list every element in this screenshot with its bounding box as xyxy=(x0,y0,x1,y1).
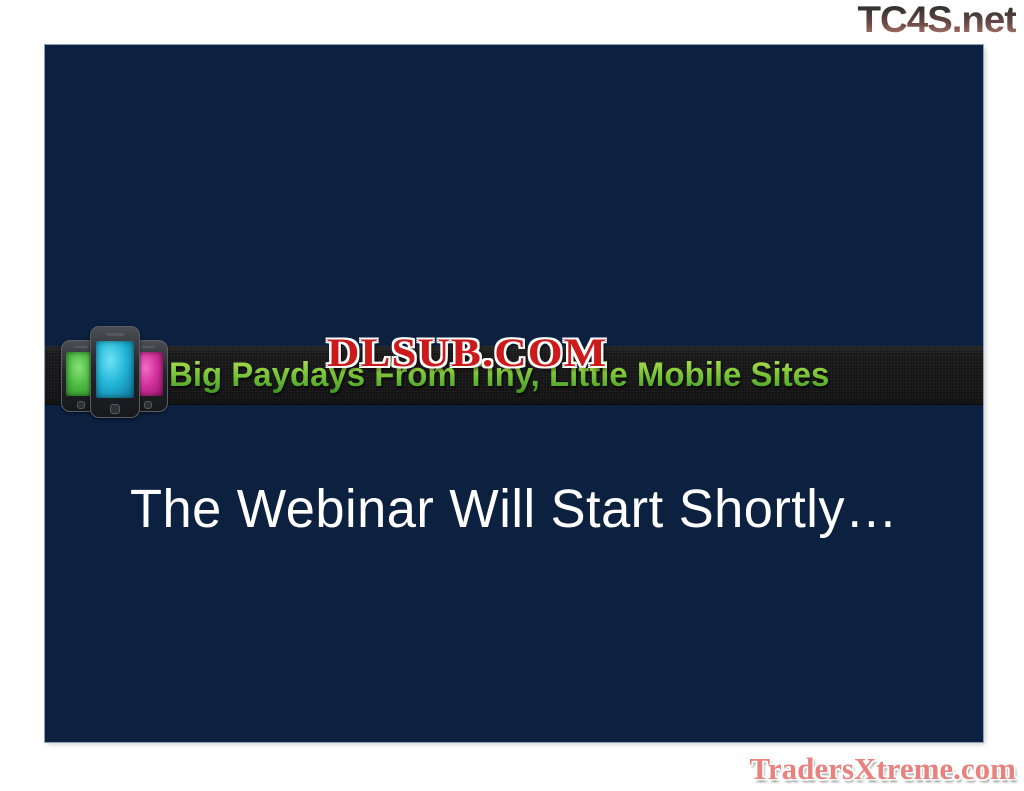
phone-blue-icon xyxy=(90,326,140,418)
dlsub-watermark: DLSUB.COM xyxy=(327,331,607,375)
phones-illustration xyxy=(59,326,177,420)
phone-speaker-icon xyxy=(106,333,123,336)
phone-home-button-icon xyxy=(144,401,152,409)
brand-footer-tradersxtreme: TradersXtreme.com xyxy=(0,750,1016,788)
site-logo-tc4s: TC4S.net xyxy=(829,0,1016,42)
phone-home-button-icon xyxy=(110,404,121,414)
phone-home-button-icon xyxy=(77,401,85,409)
slide-heading: The Webinar Will Start Shortly… xyxy=(59,477,969,541)
phone-speaker-icon xyxy=(141,346,155,348)
phone-screen xyxy=(96,341,134,399)
presentation-slide: Big Paydays From Tiny, Little Mobile Sit… xyxy=(45,45,983,742)
phone-speaker-icon xyxy=(74,346,88,348)
